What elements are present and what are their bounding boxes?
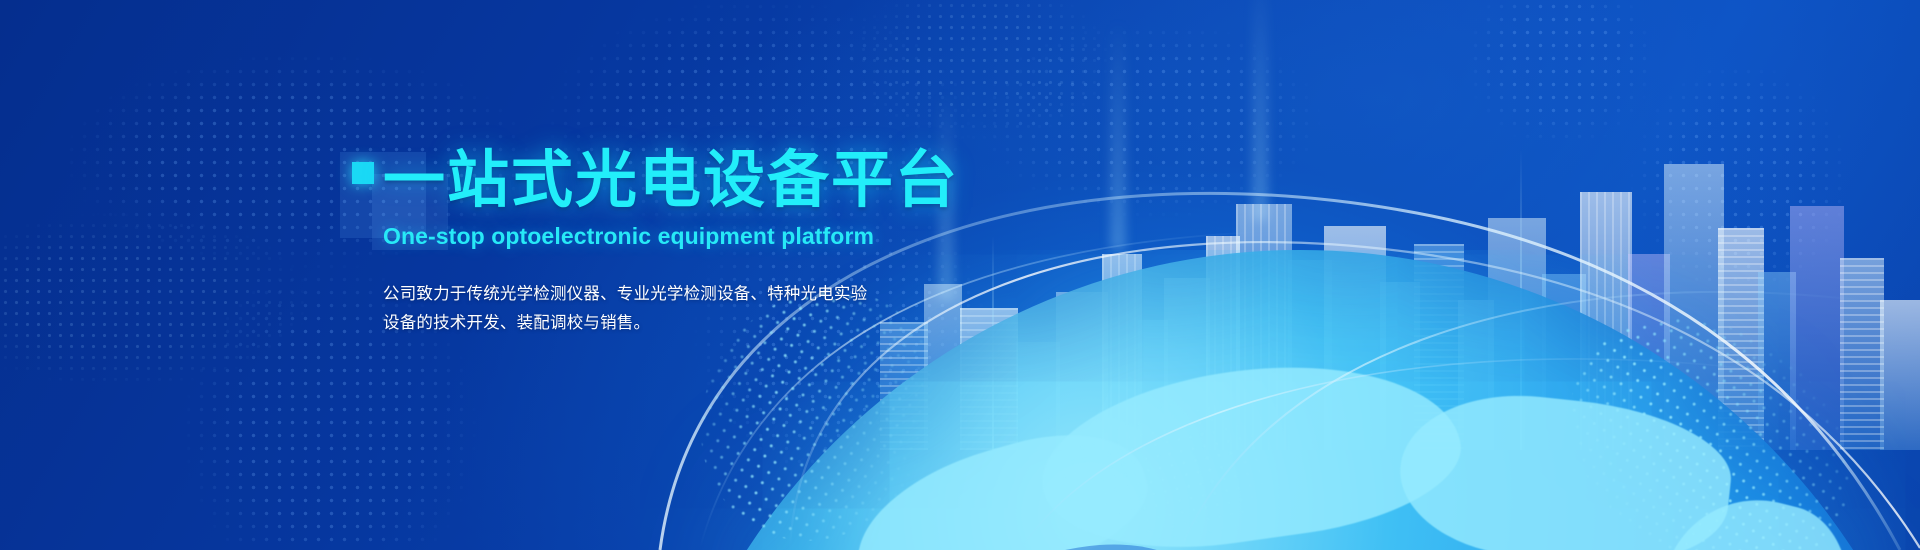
banner-description: 公司致力于传统光学检测仪器、专业光学检测设备、特种光电实验设备的技术开发、装配调…	[383, 280, 873, 338]
banner-copy: 一站式光电设备平台 One-stop optoelectronic equipm…	[383, 148, 943, 337]
page-subtitle: One-stop optoelectronic equipment platfo…	[383, 223, 943, 250]
cyan-accent-square-icon	[352, 162, 374, 184]
hero-banner: 一站式光电设备平台 One-stop optoelectronic equipm…	[0, 0, 1920, 550]
page-title: 一站式光电设备平台	[383, 148, 943, 214]
